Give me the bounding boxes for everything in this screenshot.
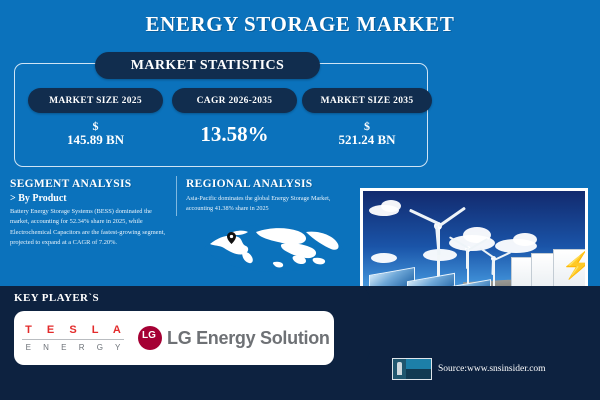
lg-circle-mark [138,326,162,350]
stat-pill-label: MARKET SIZE 2025 [28,88,163,113]
cloud [513,233,537,246]
tesla-divider [22,339,124,340]
page-title: ENERGY STORAGE MARKET [0,12,600,37]
location-pin-icon [227,232,236,244]
stat-value: $ 145.89 BN [28,120,163,147]
sns-insider-logo-icon [392,358,432,380]
tesla-wordmark: T E S L A [14,324,132,336]
tesla-energy-wordmark: E N E R G Y [14,343,132,352]
stat-card-market-size-2035: MARKET SIZE 2035 $ 521.24 BN [302,88,432,147]
lightning-bolt-icon: ⚡ [561,253,588,279]
stat-number: 13.58% [200,122,268,146]
stat-number: 521.24 BN [338,132,395,147]
cloud [381,200,401,212]
column-divider [176,176,177,216]
regional-analysis-body: Asia-Pacific dominates the global Energy… [186,194,351,214]
lighthouse-icon [393,359,406,379]
source-attribution: Source:www.snsinsider.com [392,358,546,380]
regional-analysis-section: REGIONAL ANALYSIS Asia-Pacific dominates… [186,178,351,214]
segment-analysis-heading: SEGMENT ANALYSIS [10,178,170,190]
stat-pill-label: CAGR 2026-2035 [172,88,297,113]
lg-wordmark: LG Energy Solution [167,328,330,349]
statistics-section-label: MARKET STATISTICS [95,52,320,79]
cloud [463,227,491,243]
tesla-energy-logo: T E S L A E N E R G Y [14,324,132,352]
key-players-logo-card: T E S L A E N E R G Y LG Energy Solution [14,311,334,365]
cloud [371,253,397,263]
infographic-canvas: ENERGY STORAGE MARKET MARKET STATISTICS … [0,0,600,400]
stat-pill-label: MARKET SIZE 2035 [302,88,432,113]
turbine-blade [466,249,468,269]
stat-number: 145.89 BN [67,132,124,147]
segment-analysis-subheading: > By Product [10,193,170,204]
stat-value: 13.58% [172,123,297,146]
segment-analysis-body: Battery Energy Storage Systems (BESS) do… [10,207,170,249]
stat-card-cagr: CAGR 2026-2035 13.58% [172,88,297,146]
segment-analysis-section: SEGMENT ANALYSIS > By Product Battery En… [10,178,170,249]
lg-energy-solution-logo: LG Energy Solution [138,326,330,350]
key-players-heading: KEY PLAYER`S [14,292,99,304]
source-text: Source:www.snsinsider.com [438,364,546,374]
stat-value: $ 521.24 BN [302,120,432,147]
stat-card-market-size-2025: MARKET SIZE 2025 $ 145.89 BN [28,88,163,147]
regional-analysis-heading: REGIONAL ANALYSIS [186,178,351,190]
world-map-globe-icon [186,218,356,280]
